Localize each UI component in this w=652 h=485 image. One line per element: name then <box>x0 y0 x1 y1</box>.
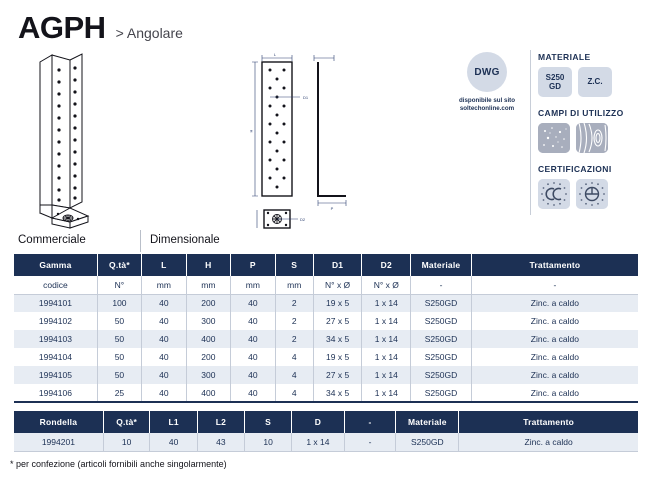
rondella-header-col-5: D <box>292 411 344 433</box>
main-cell-2-3: 400 <box>186 330 231 348</box>
dwg-badge[interactable]: DWG <box>467 52 507 92</box>
rondella-cell-0-5: 1 x 14 <box>292 433 344 451</box>
main-header-col-6: D1 <box>313 254 362 276</box>
rondella-cell-0-0: 1994201 <box>14 433 103 451</box>
materiale-heading: MATERIALE <box>538 52 648 62</box>
main-cell-3-3: 200 <box>186 348 231 366</box>
table-row[interactable]: 1994103504040040234 x 51 x 14S250GDZinc.… <box>14 330 638 348</box>
rondella-cell-0-4: 10 <box>245 433 292 451</box>
main-cell-3-1: 50 <box>97 348 141 366</box>
rondella-header-col-2: L1 <box>150 411 197 433</box>
dimension-label-L: L <box>274 52 277 57</box>
rondella-header-col-7: Materiale <box>396 411 459 433</box>
main-cell-5-0: 1994106 <box>14 384 97 402</box>
main-unit-2: mm <box>142 276 187 294</box>
rondella-header-col-6: - <box>344 411 396 433</box>
wood-icon <box>576 123 608 153</box>
isometric-drawing <box>20 50 140 230</box>
main-header-col-5: S <box>275 254 313 276</box>
main-cell-2-1: 50 <box>97 330 141 348</box>
main-cell-3-4: 40 <box>231 348 276 366</box>
main-header-col-4: P <box>231 254 276 276</box>
main-cell-2-9: Zinc. a caldo <box>471 330 638 348</box>
main-cell-4-7: 1 x 14 <box>362 366 411 384</box>
table-row[interactable]: 1994106254040040434 x 51 x 14S250GDZinc.… <box>14 384 638 402</box>
main-cell-0-5: 2 <box>275 294 313 312</box>
rondella-cell-0-1: 10 <box>103 433 150 451</box>
main-cell-2-4: 40 <box>231 330 276 348</box>
main-cell-5-8: S250GD <box>411 384 472 402</box>
main-cell-5-5: 4 <box>275 384 313 402</box>
main-cell-2-6: 34 x 5 <box>313 330 362 348</box>
main-cell-0-9: Zinc. a caldo <box>471 294 638 312</box>
materiale-badges: S250 GD Z.C. <box>538 67 648 97</box>
main-cell-5-7: 1 x 14 <box>362 384 411 402</box>
main-cell-3-2: 40 <box>142 348 187 366</box>
product-code: AGPH <box>18 12 106 43</box>
main-cell-4-3: 300 <box>186 366 231 384</box>
footnote: * per confezione (articoli fornibili anc… <box>10 459 227 469</box>
main-cell-2-7: 1 x 14 <box>362 330 411 348</box>
rondella-header-row: RondellaQ.tà*L1L2SD-MaterialeTrattamento <box>14 411 638 433</box>
main-unit-4: mm <box>231 276 276 294</box>
material-badge-line1: S250 <box>546 73 565 82</box>
main-cell-1-4: 40 <box>231 312 276 330</box>
main-unit-0: codice <box>14 276 97 294</box>
rondella-header-col-0: Rondella <box>14 411 103 433</box>
dwg-caption: disponibile sul sito soltechonline.com <box>448 97 526 114</box>
main-cell-0-0: 1994101 <box>14 294 97 312</box>
rondella-table: RondellaQ.tà*L1L2SD-MaterialeTrattamento… <box>14 411 638 452</box>
main-cell-3-8: S250GD <box>411 348 472 366</box>
product-subtitle: > Angolare <box>116 25 183 41</box>
rondella-header-col-3: L2 <box>197 411 244 433</box>
main-cell-1-2: 40 <box>142 312 187 330</box>
datasheet-page: AGPH > Angolare <box>0 0 652 485</box>
table-row[interactable]: 1994104504020040419 x 51 x 14S250GDZinc.… <box>14 348 638 366</box>
group-label-divider <box>140 230 141 252</box>
main-cell-1-9: Zinc. a caldo <box>471 312 638 330</box>
main-cell-0-4: 40 <box>231 294 276 312</box>
dwg-caption-line2: soltechonline.com <box>460 105 514 112</box>
main-unit-9: - <box>471 276 638 294</box>
material-badge-s250gd: S250 GD <box>538 67 572 97</box>
main-cell-1-3: 300 <box>186 312 231 330</box>
main-header-col-0: Gamma <box>14 254 97 276</box>
dimension-label-H: H <box>249 129 254 132</box>
main-unit-7: N° x Ø <box>362 276 411 294</box>
table-row[interactable]: 19941011004020040219 x 51 x 14S250GDZinc… <box>14 294 638 312</box>
main-cell-1-1: 50 <box>97 312 141 330</box>
material-badge-zc-label: Z.C. <box>587 77 602 86</box>
main-header-col-8: Materiale <box>411 254 472 276</box>
campi-utilizzo-heading: CAMPI DI UTILIZZO <box>538 108 648 118</box>
main-cell-0-1: 100 <box>97 294 141 312</box>
orthographic-drawing: L <box>248 48 368 233</box>
main-cell-5-9: Zinc. a caldo <box>471 384 638 402</box>
dwg-caption-line1: disponibile sul sito <box>459 97 515 104</box>
main-table-header-row: GammaQ.tà*LHPSD1D2MaterialeTrattamento <box>14 254 638 276</box>
main-cell-5-4: 40 <box>231 384 276 402</box>
certificazioni-heading: CERTIFICAZIONI <box>538 164 648 174</box>
main-header-col-2: L <box>142 254 187 276</box>
table-group-labels: Commerciale Dimensionale <box>14 234 638 254</box>
main-cell-2-2: 40 <box>142 330 187 348</box>
main-header-col-3: H <box>186 254 231 276</box>
main-cell-2-8: S250GD <box>411 330 472 348</box>
material-badge-zc: Z.C. <box>578 67 612 97</box>
main-cell-5-6: 34 x 5 <box>313 384 362 402</box>
main-cell-1-0: 1994102 <box>14 312 97 330</box>
main-cell-4-4: 40 <box>231 366 276 384</box>
main-cell-0-7: 1 x 14 <box>362 294 411 312</box>
main-cell-4-8: S250GD <box>411 366 472 384</box>
rondella-header-col-4: S <box>245 411 292 433</box>
group-label-dimensionale: Dimensionale <box>150 234 220 246</box>
main-cell-4-9: Zinc. a caldo <box>471 366 638 384</box>
main-cell-0-8: S250GD <box>411 294 472 312</box>
main-cell-3-6: 19 x 5 <box>313 348 362 366</box>
ce-mark-icon <box>538 179 570 209</box>
main-cell-1-6: 27 x 5 <box>313 312 362 330</box>
main-cell-1-5: 2 <box>275 312 313 330</box>
main-header-col-7: D2 <box>362 254 411 276</box>
main-cell-4-2: 40 <box>142 366 187 384</box>
main-cell-4-6: 27 x 5 <box>313 366 362 384</box>
table-row[interactable]: 1994105504030040427 x 51 x 14S250GDZinc.… <box>14 366 638 384</box>
main-unit-3: mm <box>186 276 231 294</box>
main-cell-4-1: 50 <box>97 366 141 384</box>
main-cell-4-5: 4 <box>275 366 313 384</box>
material-badge-line2: GD <box>549 82 561 91</box>
rondella-header-col-8: Trattamento <box>459 411 638 433</box>
main-cell-3-7: 1 x 14 <box>362 348 411 366</box>
rondella-cell-0-6: - <box>344 433 396 451</box>
main-units-row: codiceN°mmmmmmmmN° x ØN° x Ø-- <box>14 276 638 294</box>
main-cell-1-7: 1 x 14 <box>362 312 411 330</box>
campi-utilizzo-badges <box>538 123 648 153</box>
main-header-col-9: Trattamento <box>471 254 638 276</box>
eu-certification-icon <box>576 179 608 209</box>
panel-divider <box>530 50 531 215</box>
main-cell-2-0: 1994103 <box>14 330 97 348</box>
dimension-label-P: P <box>331 206 334 211</box>
main-cell-1-8: S250GD <box>411 312 472 330</box>
rondella-cell-0-2: 40 <box>150 433 197 451</box>
main-cell-5-1: 25 <box>97 384 141 402</box>
main-cell-5-3: 400 <box>186 384 231 402</box>
info-panel: MATERIALE S250 GD Z.C. CAMPI DI UTILIZZO <box>538 52 648 220</box>
page-title: AGPH > Angolare <box>18 12 183 43</box>
main-header-col-1: Q.tà* <box>97 254 141 276</box>
main-unit-1: N° <box>97 276 141 294</box>
main-cell-0-2: 40 <box>142 294 187 312</box>
dwg-download-block[interactable]: DWG disponibile sul sito soltechonline.c… <box>448 52 526 114</box>
main-cell-0-6: 19 x 5 <box>313 294 362 312</box>
main-unit-6: N° x Ø <box>313 276 362 294</box>
dimension-label-D1: D1 <box>303 95 309 100</box>
table-row[interactable]: 1994102504030040227 x 51 x 14S250GDZinc.… <box>14 312 638 330</box>
main-cell-0-3: 200 <box>186 294 231 312</box>
table-row[interactable]: 1994201104043101 x 14-S250GDZinc. a cald… <box>14 433 638 451</box>
main-cell-5-2: 40 <box>142 384 187 402</box>
main-cell-3-5: 4 <box>275 348 313 366</box>
main-cell-3-9: Zinc. a caldo <box>471 348 638 366</box>
main-product-table: GammaQ.tà*LHPSD1D2MaterialeTrattamento c… <box>14 254 638 403</box>
certificazioni-badges <box>538 179 648 209</box>
rondella-cell-0-8: Zinc. a caldo <box>459 433 638 451</box>
dimension-label-D2: D2 <box>300 217 306 222</box>
main-cell-3-0: 1994104 <box>14 348 97 366</box>
main-unit-8: - <box>411 276 472 294</box>
main-unit-5: mm <box>275 276 313 294</box>
main-cell-4-0: 1994105 <box>14 366 97 384</box>
rondella-header-col-1: Q.tà* <box>103 411 150 433</box>
concrete-icon <box>538 123 570 153</box>
group-label-commerciale: Commerciale <box>18 234 86 246</box>
rondella-cell-0-7: S250GD <box>396 433 459 451</box>
main-cell-2-5: 2 <box>275 330 313 348</box>
rondella-cell-0-3: 43 <box>197 433 244 451</box>
